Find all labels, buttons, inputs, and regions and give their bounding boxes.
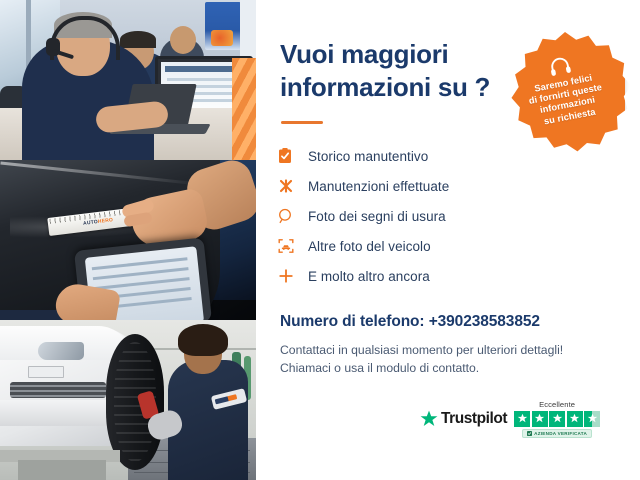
tools-cross-icon: [278, 178, 308, 194]
star-filled-icon: [532, 411, 548, 427]
photo-vehicle-inspection: AUTOHERO: [0, 160, 256, 320]
promo-banner: AUTOHERO: [0, 0, 640, 480]
technician-hair: [178, 324, 228, 356]
list-item: Manutenzioni effettuate: [278, 171, 538, 201]
plus-icon: [278, 268, 308, 284]
contact-line-1: Contattaci in qualsiasi momento per ulte…: [280, 341, 600, 359]
license-plate: [28, 366, 64, 378]
contact-line-2: Chiamaci o usa il modulo di contatto.: [280, 359, 600, 377]
vehicle-lift-base: [18, 460, 106, 480]
star-filled-icon: [549, 411, 565, 427]
photo-call-center: [0, 0, 256, 160]
phone-number-label[interactable]: Numero di telefono: +390238583852: [280, 313, 540, 331]
ruler-brand-prefix: AUTO: [83, 219, 98, 227]
list-item: Altre foto del veicolo: [278, 231, 538, 261]
trustpilot-rating: Eccellente: [514, 400, 600, 438]
wall-poster: [205, 2, 241, 50]
headset-icon: [547, 55, 572, 79]
star-filled-icon: [514, 411, 530, 427]
badge-content: Saremo felici di fornirti queste informa…: [495, 22, 636, 163]
status-badge: AZIENDA VERIFICATA: [522, 429, 592, 438]
background-person-3-head: [170, 26, 196, 54]
verified-label: AZIENDA VERIFICATA: [534, 431, 587, 436]
magnifier-icon: [278, 208, 308, 224]
trustpilot-rating-label: Eccellente: [539, 400, 575, 409]
screen-row: [167, 78, 241, 81]
photo-wheel-inspection: [0, 320, 256, 480]
list-item-label: Altre foto del veicolo: [308, 239, 431, 254]
front-grille: [10, 382, 106, 398]
headlight: [38, 342, 84, 360]
trustpilot-star-icon: [420, 410, 438, 428]
heading-line-2: informazioni su ?: [280, 71, 520, 104]
star-half-icon: [584, 411, 600, 427]
list-item-label: Foto dei segni di usura: [308, 209, 446, 224]
trustpilot-logo: Trustpilot: [420, 410, 507, 428]
title-underline-divider: [281, 121, 323, 124]
ruler-brand-suffix: HERO: [98, 217, 114, 225]
trustpilot-wordmark: Trustpilot: [441, 410, 507, 428]
trustpilot-widget[interactable]: Trustpilot Eccellente: [420, 400, 600, 438]
list-item-label: E molto altro ancora: [308, 269, 430, 284]
list-item-label: Storico manutentivo: [308, 149, 428, 164]
page-title: Vuoi maggiori informazioni su ?: [280, 38, 520, 104]
clipboard-check-icon: [278, 148, 308, 164]
car-photo-frame-icon: [278, 238, 308, 254]
contact-description: Contattaci in qualsiasi momento per ulte…: [280, 341, 600, 378]
feature-list: Storico manutentivo Manutenzioni effettu…: [278, 141, 538, 291]
front-bumper: [0, 400, 122, 426]
list-item: E molto altro ancora: [278, 261, 538, 291]
trustpilot-star-rating: [514, 411, 600, 427]
orange-decor-panel: [232, 58, 256, 160]
verified-check-icon: [527, 431, 532, 436]
callout-badge: Saremo felici di fornirti queste informa…: [505, 32, 625, 152]
heading-line-1: Vuoi maggiori: [280, 38, 520, 71]
badge-text: Saremo felici di fornirti queste informa…: [526, 71, 607, 129]
list-item-label: Manutenzioni effettuate: [308, 179, 449, 194]
star-filled-icon: [567, 411, 583, 427]
background-person-2-hair: [120, 31, 156, 48]
photo-strip: AUTOHERO: [0, 0, 256, 480]
list-item: Storico manutentivo: [278, 141, 538, 171]
list-item: Foto dei segni di usura: [278, 201, 538, 231]
